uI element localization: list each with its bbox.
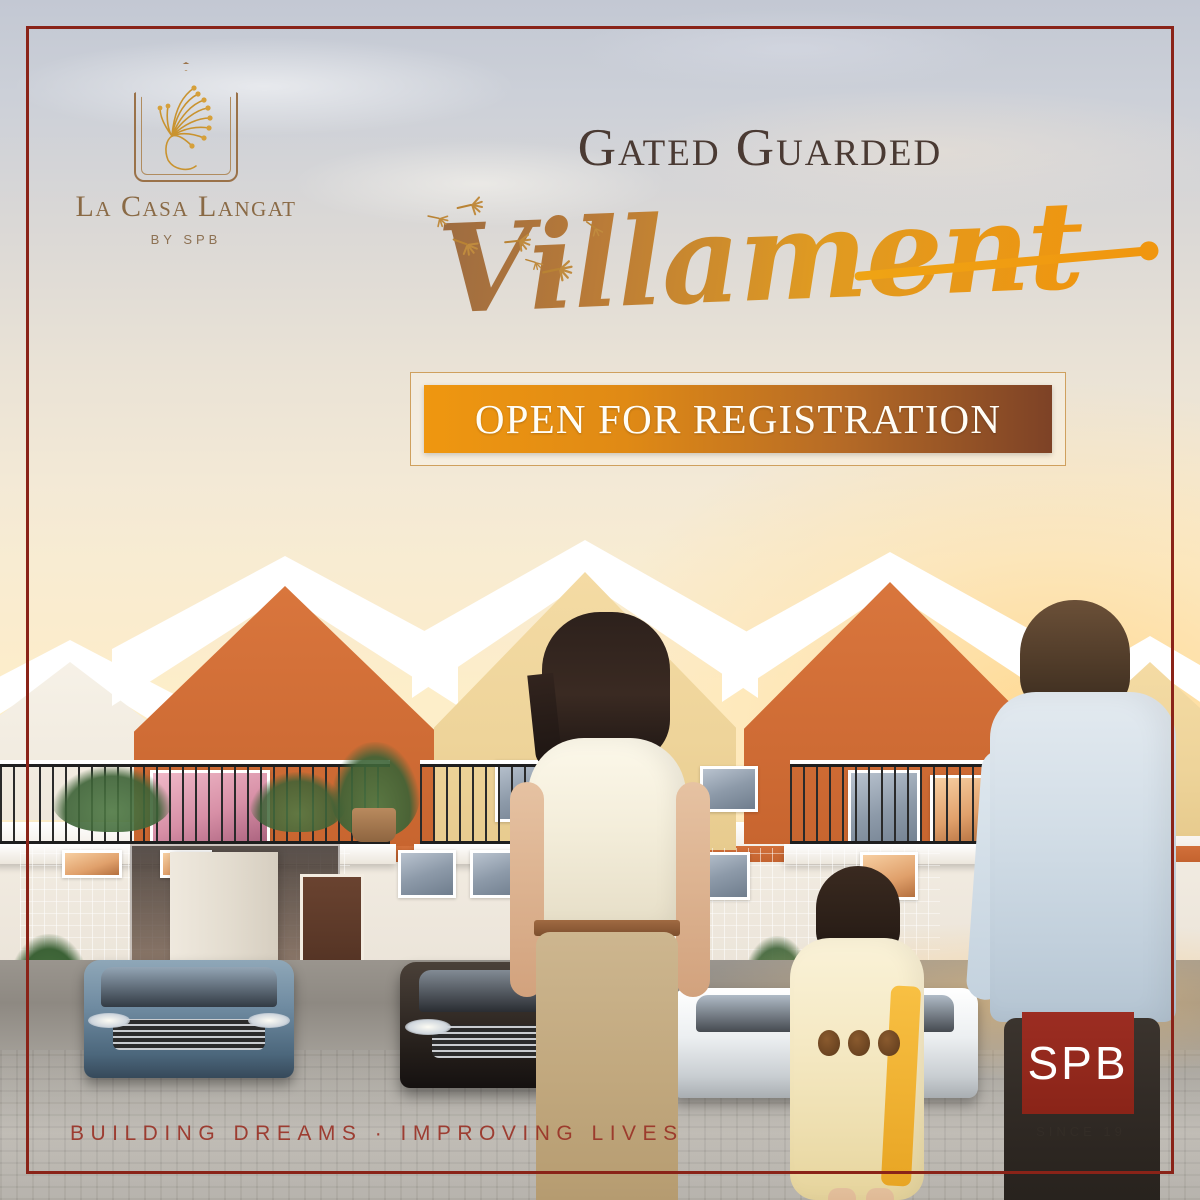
- mother-trousers: [536, 932, 678, 1200]
- child-dress-motif: [878, 1030, 900, 1056]
- car-headlight: [405, 1019, 451, 1035]
- child-leg: [866, 1188, 894, 1200]
- logo-subtitle: BY SPB: [56, 232, 316, 247]
- registration-banner[interactable]: OPEN FOR REGISTRATION: [410, 372, 1066, 466]
- person-child: [790, 866, 940, 1200]
- registration-banner-fill: OPEN FOR REGISTRATION: [424, 385, 1052, 453]
- ground-window: [398, 850, 456, 898]
- car-windshield: [101, 967, 277, 1007]
- registration-label: OPEN FOR REGISTRATION: [475, 399, 1001, 440]
- spb-square: SPB: [1022, 1012, 1134, 1114]
- brand-logo[interactable]: La Casa Langat BY SPB: [56, 62, 316, 247]
- spb-since-text: SINCE 19: [1022, 1124, 1140, 1139]
- car-blue-hatchback: [84, 960, 294, 1078]
- child-leg: [828, 1188, 856, 1200]
- child-dress-motif: [818, 1030, 840, 1056]
- developer-badge[interactable]: SPB SINCE 19: [1022, 1012, 1140, 1139]
- father-shirt: [990, 692, 1176, 1022]
- plant-pot: [352, 808, 396, 842]
- mother-arm-right: [676, 782, 710, 997]
- car-grille: [113, 1019, 264, 1050]
- logo-name: La Casa Langat: [56, 192, 316, 222]
- dandelion-house-icon: [134, 62, 238, 182]
- person-mother: [528, 612, 728, 1200]
- eyebrow-text: Gated Guarded: [430, 122, 1090, 175]
- script-headline: Villament: [427, 168, 1092, 346]
- child-dress-motif: [848, 1030, 870, 1056]
- dandelion-glyph: [134, 62, 238, 182]
- advertisement-poster: La Casa Langat BY SPB Gated Guarded Vill…: [0, 0, 1200, 1200]
- mother-blouse: [528, 738, 686, 928]
- spb-mark: SPB: [1027, 1040, 1128, 1086]
- ground-window: [62, 850, 122, 878]
- headline-block: Gated Guarded Villament: [430, 122, 1090, 371]
- footer-tagline: BUILDING DREAMS · IMPROVING LIVES: [70, 1122, 684, 1146]
- balcony-plant: [52, 766, 172, 832]
- script-headline-wrap: Villament: [430, 181, 1090, 371]
